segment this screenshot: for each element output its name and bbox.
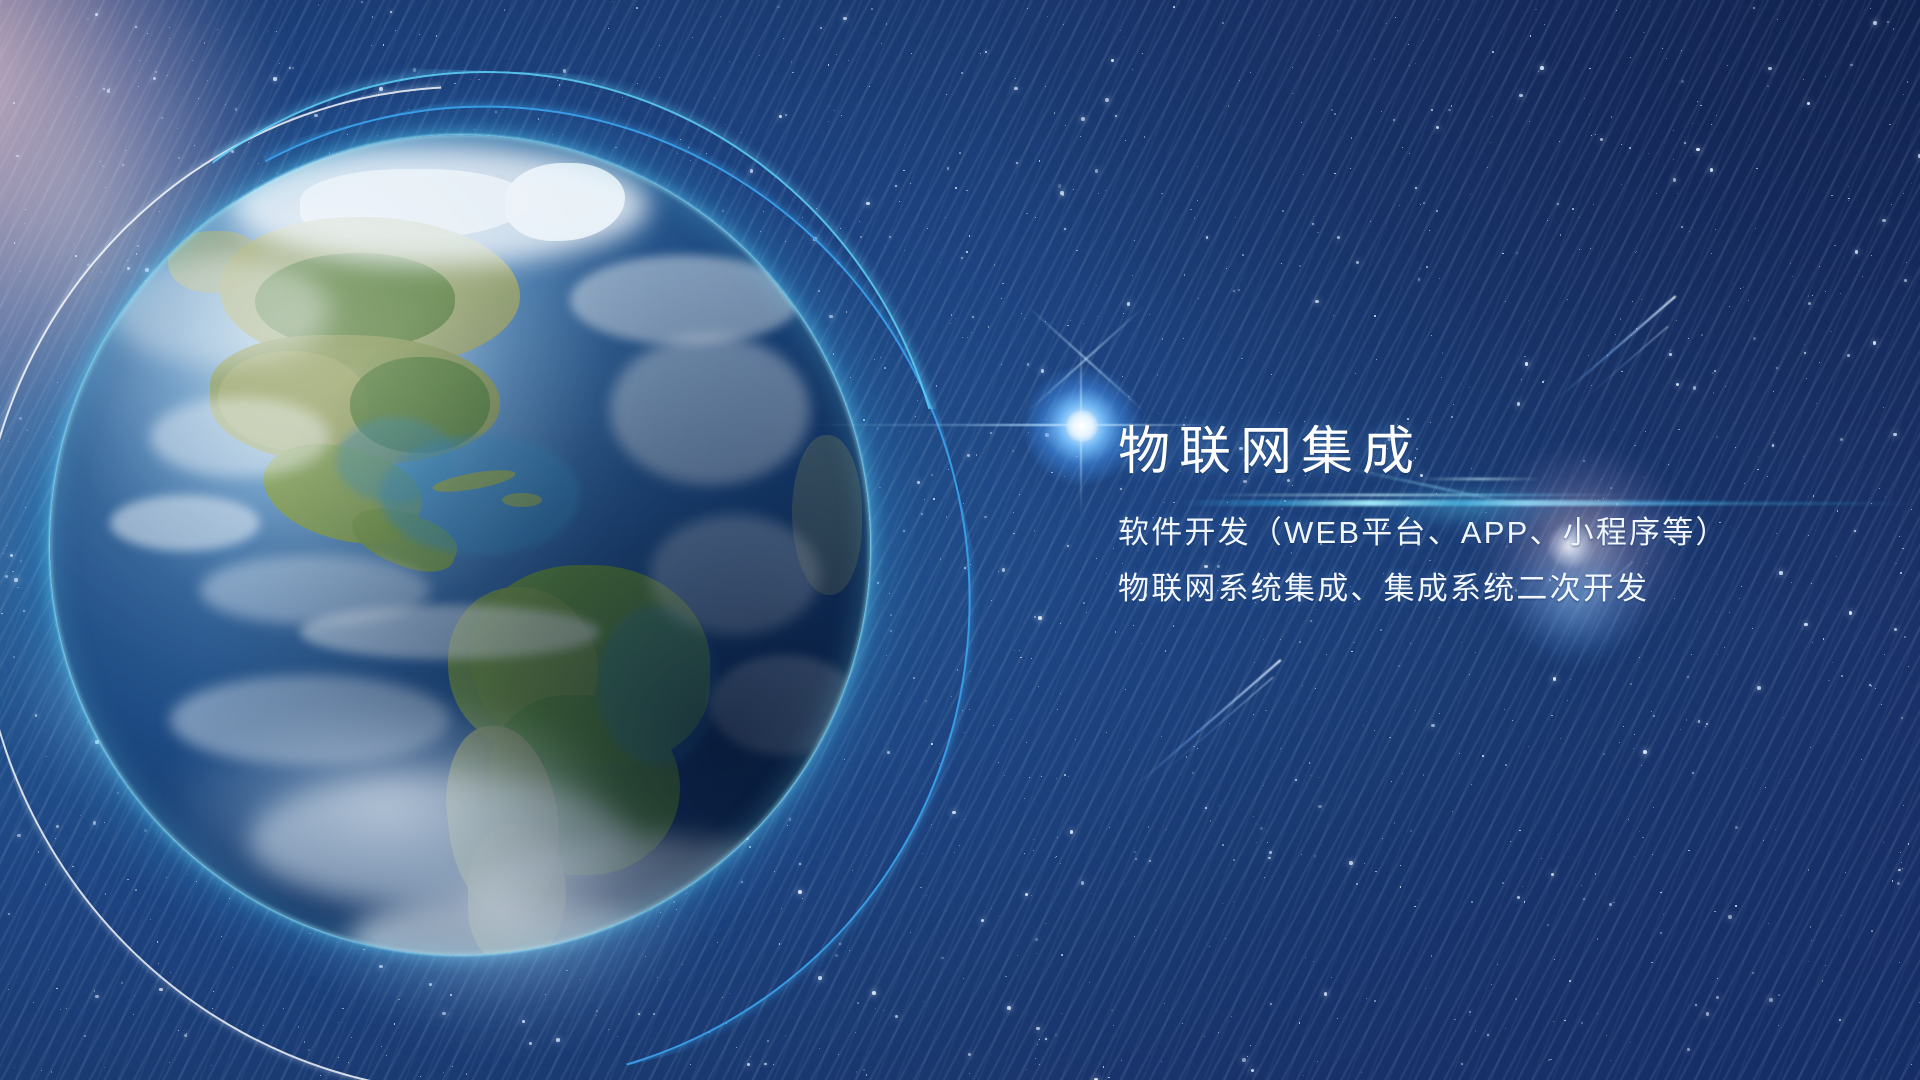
banner-subtitle-1: 软件开发（WEB平台、APP、小程序等） (1118, 516, 1878, 551)
banner-text-block: 物联网集成 软件开发（WEB平台、APP、小程序等） 物联网系统集成、集成系统二… (1118, 424, 1878, 607)
banner-title: 物联网集成 (1118, 424, 1878, 480)
banner-subtitle-2: 物联网系统集成、集成系统二次开发 (1118, 572, 1878, 607)
globe-reflection-mist (120, 690, 760, 1070)
hero-banner: 物联网集成 软件开发（WEB平台、APP、小程序等） 物联网系统集成、集成系统二… (0, 0, 1920, 1080)
lens-flare-hotspot (1066, 410, 1098, 442)
